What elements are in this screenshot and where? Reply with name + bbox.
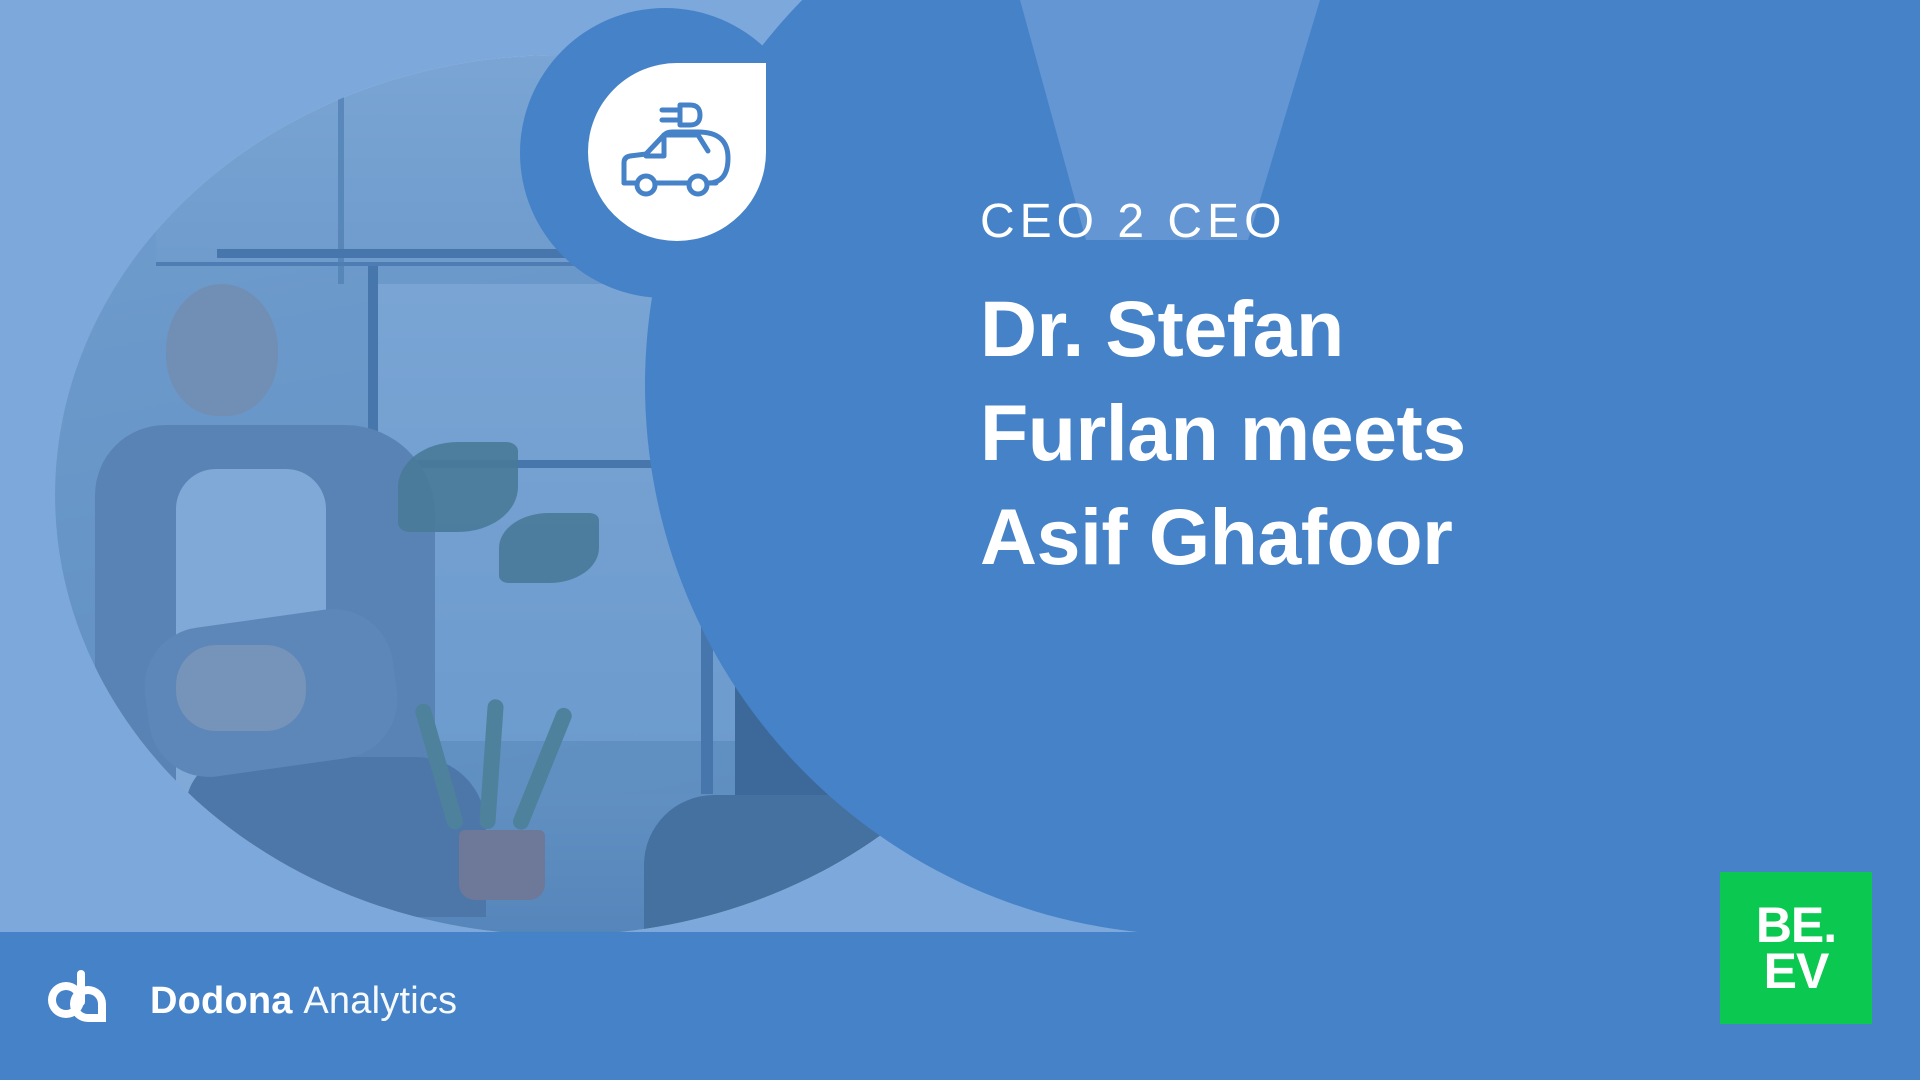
beev-logo[interactable]: BE. EV: [1720, 872, 1872, 1024]
dodona-da-monogram-icon: [44, 968, 124, 1034]
eyebrow-label: CEO 2 CEO: [980, 196, 1540, 249]
dodona-wordmark: Dodona Analytics: [150, 980, 457, 1023]
beev-line-2: EV: [1764, 948, 1829, 994]
footer-bar: Dodona Analytics BE. EV: [0, 932, 1920, 1080]
page-title: Dr. Stefan Furlan meets Asif Ghafoor: [980, 277, 1540, 590]
ev-badge: [520, 8, 810, 298]
beev-line-1: BE.: [1756, 902, 1836, 948]
dodona-name-light: Analytics: [303, 980, 457, 1022]
headline-block: CEO 2 CEO Dr. Stefan Furlan meets Asif G…: [980, 196, 1540, 590]
ev-car-charging-icon: [612, 101, 742, 205]
banner-canvas: CEO 2 CEO Dr. Stefan Furlan meets Asif G…: [0, 0, 1920, 1080]
dodona-name-bold: Dodona: [150, 980, 293, 1022]
dodona-logo[interactable]: Dodona Analytics: [44, 968, 457, 1034]
ev-badge-droplet: [588, 63, 766, 241]
